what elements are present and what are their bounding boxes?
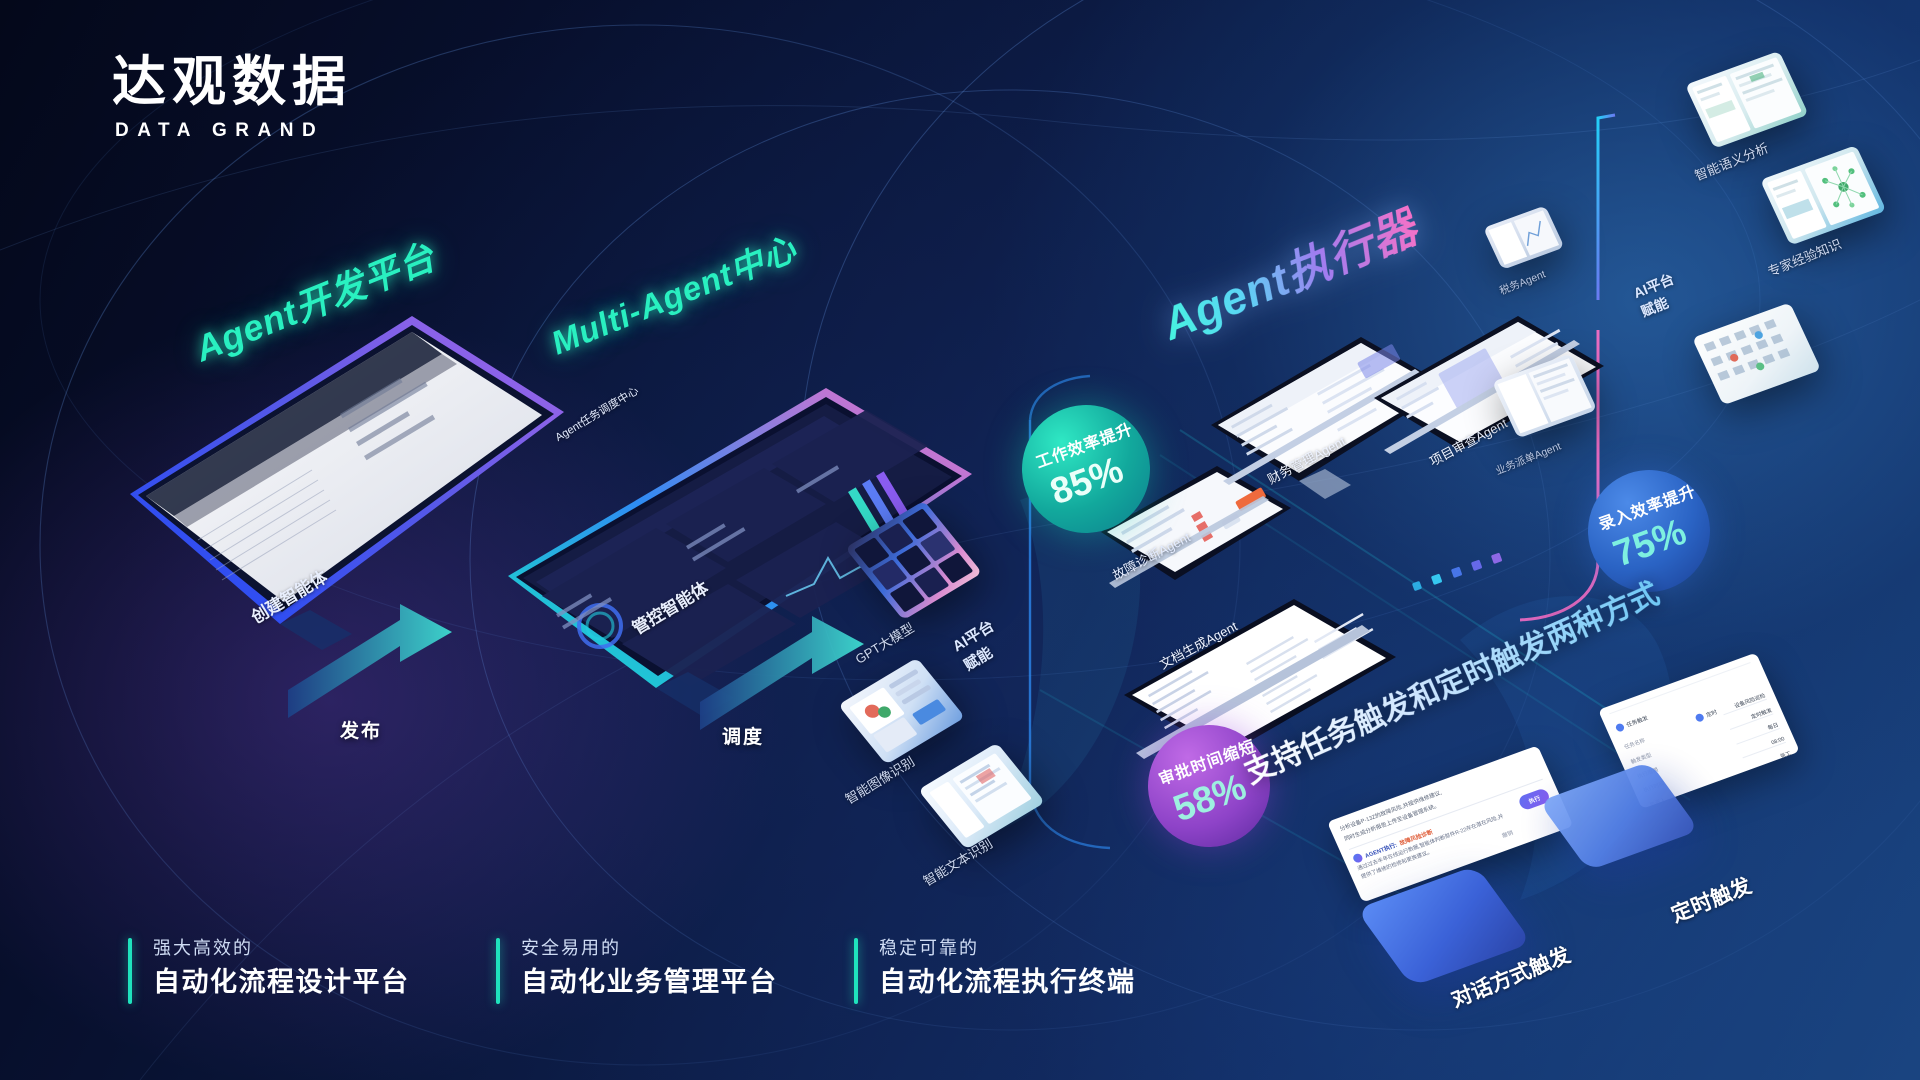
caption-big-2: 自动化流程执行终端 xyxy=(879,967,1136,998)
caption-bar-1 xyxy=(496,938,500,1004)
caption-small-0: 强大高效的 xyxy=(153,938,410,959)
arrow-label-publish: 发布 xyxy=(340,716,382,743)
agent-avatar-icon xyxy=(1352,852,1364,863)
caption-0: 强大高效的 自动化流程设计平台 xyxy=(128,938,496,1004)
ai-card-text-recognition[interactable] xyxy=(918,743,1045,850)
trigger-secondary-label: 撤销 xyxy=(1501,830,1514,839)
brand-name-en: DATA GRAND xyxy=(115,120,352,142)
bottom-captions: 强大高效的 自动化流程设计平台 安全易用的 自动化业务管理平台 稳定可靠的 自动… xyxy=(128,938,1214,1004)
caption-2: 稳定可靠的 自动化流程执行终端 xyxy=(854,938,1214,1004)
trigger-execute-label: 执行 xyxy=(1528,796,1541,805)
form-row-key: 任务名称 xyxy=(1623,736,1647,751)
ai-platform-label-right: AI平台 赋能 xyxy=(1630,269,1684,322)
ai-card-semantic-analysis[interactable] xyxy=(1685,51,1809,149)
caption-big-0: 自动化流程设计平台 xyxy=(153,967,410,998)
poster-canvas: 达观数据 DATA GRAND Agent开发平台 xyxy=(0,0,1920,1080)
ai-card-expert-knowledge[interactable] xyxy=(1760,145,1886,245)
caption-small-2: 稳定可靠的 xyxy=(879,938,1136,959)
ai-card-label-semantic: 智能语义分析 xyxy=(1691,137,1770,184)
brand-logo: 达观数据 DATA GRAND xyxy=(112,55,352,142)
device-tax-agent[interactable] xyxy=(1483,205,1565,269)
caption-1: 安全易用的 自动化业务管理平台 xyxy=(496,938,854,1004)
caption-small-1: 安全易用的 xyxy=(521,938,778,959)
ai-card-label-text: 智能文本识别 xyxy=(919,833,996,889)
ai-card-label-image: 智能图像识别 xyxy=(841,751,918,807)
caption-bar-0 xyxy=(128,938,132,1004)
brand-name-cn: 达观数据 xyxy=(112,55,352,109)
monitor-dev-platform xyxy=(118,300,548,680)
caption-big-1: 自动化业务管理平台 xyxy=(521,967,778,998)
arrow-label-schedule: 调度 xyxy=(722,722,764,749)
form-row-key: 触发类型 xyxy=(1629,750,1653,765)
caption-bar-2 xyxy=(854,938,858,1004)
ai-card-knowledge-graph[interactable] xyxy=(1692,302,1821,405)
trigger-mode-label-timer: 定时触发 xyxy=(1666,870,1755,929)
